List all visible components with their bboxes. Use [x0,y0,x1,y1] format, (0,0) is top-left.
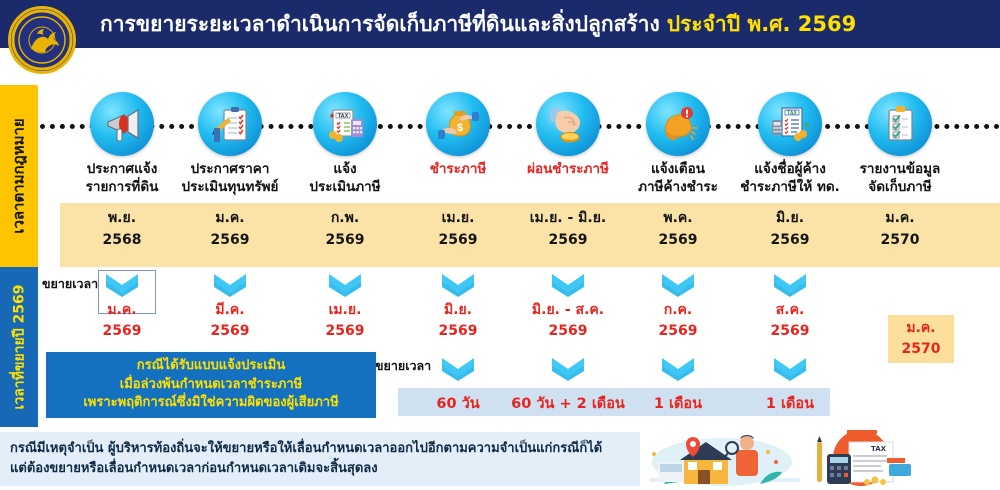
page-title-year: ประจำปี พ.ศ. 2569 [667,8,857,41]
legal-year-7: 2569 [730,230,850,252]
timeline-step-4-label: ชำระภาษี [398,161,518,179]
legal-year-1: 2568 [62,230,182,252]
timeline-step-7[interactable]: TAXแจ้งชื่อผู้ค้างชำระภาษีให้ ทด. [730,92,850,197]
step-label-line-2: จัดเก็บภาษี [868,179,931,195]
checklist-clipboard-icon[interactable] [868,92,932,156]
duration-label-5: 60 วัน + 2 เดือน [508,392,628,415]
extension-date-2: มี.ค.2569 [170,300,290,342]
chevron-down-icon-duration-7 [730,356,850,382]
assessment-note-line-3: เพราะพฤติการณ์ซึ่งมิใช่ความผิดของผู้เสีย… [83,394,338,413]
extension-month-4: มิ.ย. [398,300,518,321]
extension-month-1: ม.ค. [62,300,182,321]
legal-year-8: 2570 [840,230,960,252]
legal-year-3: 2569 [285,230,405,252]
step-label-line-1: แจ้งเตือน [651,161,705,177]
extension-year-7: 2569 [730,321,850,342]
step-label-line-2: รายการที่ดิน [86,179,159,195]
duration-label-7: 1 เดือน [730,392,850,415]
chevron-down-icon-duration-4 [398,356,518,382]
duration-label-4: 60 วัน [398,392,518,415]
step-label-line-1: ผ่อนชำระภาษี [527,161,609,177]
legal-year-4: 2569 [398,230,518,252]
legal-date-3: ก.พ.2569 [285,208,405,251]
extension-date-5: มิ.ย. - ส.ค.2569 [508,300,628,342]
legal-date-7: มิ.ย.2569 [730,208,850,251]
legal-month-2: ม.ค. [170,208,290,230]
final-report-year: 2570 [902,339,941,360]
extension-date-4: มิ.ย.2569 [398,300,518,342]
tax-form-calculator-icon[interactable]: TAX [313,92,377,156]
extension-year-1: 2569 [62,321,182,342]
legal-date-4: เม.ย.2569 [398,208,518,251]
extension-month-5: มิ.ย. - ส.ค. [508,300,628,321]
extension-date-3: เม.ย.2569 [285,300,405,342]
timeline-step-1-label: ประกาศแจ้งรายการที่ดิน [62,161,182,197]
tax-calculator-document-illustration: TAX [805,428,925,486]
svg-text:$: $ [457,122,463,134]
timeline-step-8[interactable]: รายงานข้อมูลจัดเก็บภาษี [840,92,960,197]
assessment-note-box: กรณีได้รับแบบแจ้งประเมิน เมื่อล่วงพ้นกำห… [46,352,376,418]
legal-month-6: พ.ค. [618,208,738,230]
chevron-down-icon-duration-6 [618,356,738,382]
legal-date-1: พ.ย.2568 [62,208,182,251]
page-header: การขยายระยะเวลาดำเนินการจัดเก็บภาษีที่ดิ… [0,0,1000,48]
chevron-down-icon-6 [618,272,738,298]
hand-coin-icon[interactable] [536,92,600,156]
thai-local-administration-seal-icon [8,6,76,74]
alert-bell-icon[interactable] [646,92,710,156]
timeline-step-3-label: แจ้งประเมินภาษี [285,161,405,197]
timeline-step-6[interactable]: แจ้งเตือนภาษีค้างชำระ [618,92,738,197]
legal-date-2: ม.ค.2569 [170,208,290,251]
chevron-down-icon-4 [398,272,518,298]
sidebar-legal-period-label: เวลาตามกฎหมาย [7,118,31,233]
chevron-down-icon-2 [170,272,290,298]
tax-list-report-icon[interactable]: TAX [758,92,822,156]
timeline-step-3[interactable]: TAXแจ้งประเมินภาษี [285,92,405,197]
extension-date-7: ส.ค.2569 [730,300,850,342]
footer-note-line-1: กรณีมีเหตุจำเป็น ผู้บริหารท้องถิ่นจะให้ข… [10,439,630,459]
legal-date-5: เม.ย. - มิ.ย.2569 [508,208,628,251]
legal-year-5: 2569 [508,230,628,252]
extension-month-3: เม.ย. [285,300,405,321]
extension-month-2: มี.ค. [170,300,290,321]
timeline-step-2[interactable]: ประกาศราคาประเมินทุนทรัพย์ [170,92,290,197]
page-title: การขยายระยะเวลาดำเนินการจัดเก็บภาษีที่ดิ… [100,0,990,48]
final-report-month: ม.ค. [906,318,935,339]
megaphone-icon[interactable] [90,92,154,156]
sidebar-legal-period: เวลาตามกฎหมาย [0,85,38,267]
step-label-line-2: ภาษีค้างชำระ [638,179,718,195]
final-report-date-box: ม.ค. 2570 [888,315,954,363]
assessment-note-line-2: เมื่อล่วงพ้นกำหนดเวลาชำระภาษี [120,376,303,395]
timeline-step-5-label: ผ่อนชำระภาษี [508,161,628,179]
step-label-line-1: ชำระภาษี [430,161,487,177]
extension-date-6: ก.ค.2569 [618,300,738,342]
timeline-step-8-label: รายงานข้อมูลจัดเก็บภาษี [840,161,960,197]
sidebar-extended-period-label: เวลาที่ขยายปี 2569 [8,285,30,410]
step-label-line-2: ประเมินทุนทรัพย์ [182,179,279,195]
legal-month-5: เม.ย. - มิ.ย. [508,208,628,230]
step-label-line-1: ประกาศแจ้ง [87,161,158,177]
legal-date-8: ม.ค.2570 [840,208,960,251]
legal-month-3: ก.พ. [285,208,405,230]
timeline-step-5[interactable]: ผ่อนชำระภาษี [508,92,628,179]
footer-note: กรณีมีเหตุจำเป็น ผู้บริหารท้องถิ่นจะให้ข… [0,432,640,486]
step-label-line-2: ชำระภาษีให้ ทด. [740,179,840,195]
duration-label-6: 1 เดือน [618,392,738,415]
legal-month-4: เม.ย. [398,208,518,230]
chevron-down-icon-duration-5 [508,356,628,382]
chevron-down-icon-7 [730,272,850,298]
chevron-down-icon-5 [508,272,628,298]
extension-year-6: 2569 [618,321,738,342]
extension-year-5: 2569 [508,321,628,342]
legal-date-6: พ.ค.2569 [618,208,738,251]
money-bag-hand-icon[interactable]: $ [426,92,490,156]
chevron-down-icon-3 [285,272,405,298]
sidebar-extended-period: เวลาที่ขยายปี 2569 [0,267,38,427]
extension-year-4: 2569 [398,321,518,342]
svg-text:TAX: TAX [871,445,887,453]
timeline-step-4[interactable]: $ชำระภาษี [398,92,518,179]
legal-month-8: ม.ค. [840,208,960,230]
svg-text:TAX: TAX [338,114,349,120]
extension-month-6: ก.ค. [618,300,738,321]
footer-note-line-2: แต่ต้องขยายหรือเลื่อนกำหนดเวลาก่อนกำหนดเ… [10,459,630,479]
chevron-down-icon-1 [62,272,182,298]
extension-month-7: ส.ค. [730,300,850,321]
timeline-step-2-label: ประกาศราคาประเมินทุนทรัพย์ [170,161,290,197]
infographic-page: การขยายระยะเวลาดำเนินการจัดเก็บภาษีที่ดิ… [0,0,1000,486]
legal-year-6: 2569 [618,230,738,252]
extension-year-2: 2569 [170,321,290,342]
house-inspection-illustration [640,428,800,486]
step-label-line-2: ประเมินภาษี [309,179,380,195]
clipboard-pencil-icon[interactable] [198,92,262,156]
step-label-line-1: แจ้ง [333,161,356,177]
svg-text:TAX: TAX [787,110,797,116]
timeline-step-7-label: แจ้งชื่อผู้ค้างชำระภาษีให้ ทด. [730,161,850,197]
timeline-step-6-label: แจ้งเตือนภาษีค้างชำระ [618,161,738,197]
extension-date-1: ม.ค.2569 [62,300,182,342]
page-title-main: การขยายระยะเวลาดำเนินการจัดเก็บภาษีที่ดิ… [100,8,660,41]
step-label-line-1: รายงานข้อมูล [860,161,941,177]
legal-month-7: มิ.ย. [730,208,850,230]
legal-month-1: พ.ย. [62,208,182,230]
step-label-line-1: แจ้งชื่อผู้ค้าง [754,161,826,177]
assessment-note-line-1: กรณีได้รับแบบแจ้งประเมิน [137,357,285,376]
step-label-line-1: ประกาศราคา [191,161,270,177]
extension-year-3: 2569 [285,321,405,342]
legal-year-2: 2569 [170,230,290,252]
timeline-step-1[interactable]: ประกาศแจ้งรายการที่ดิน [62,92,182,197]
